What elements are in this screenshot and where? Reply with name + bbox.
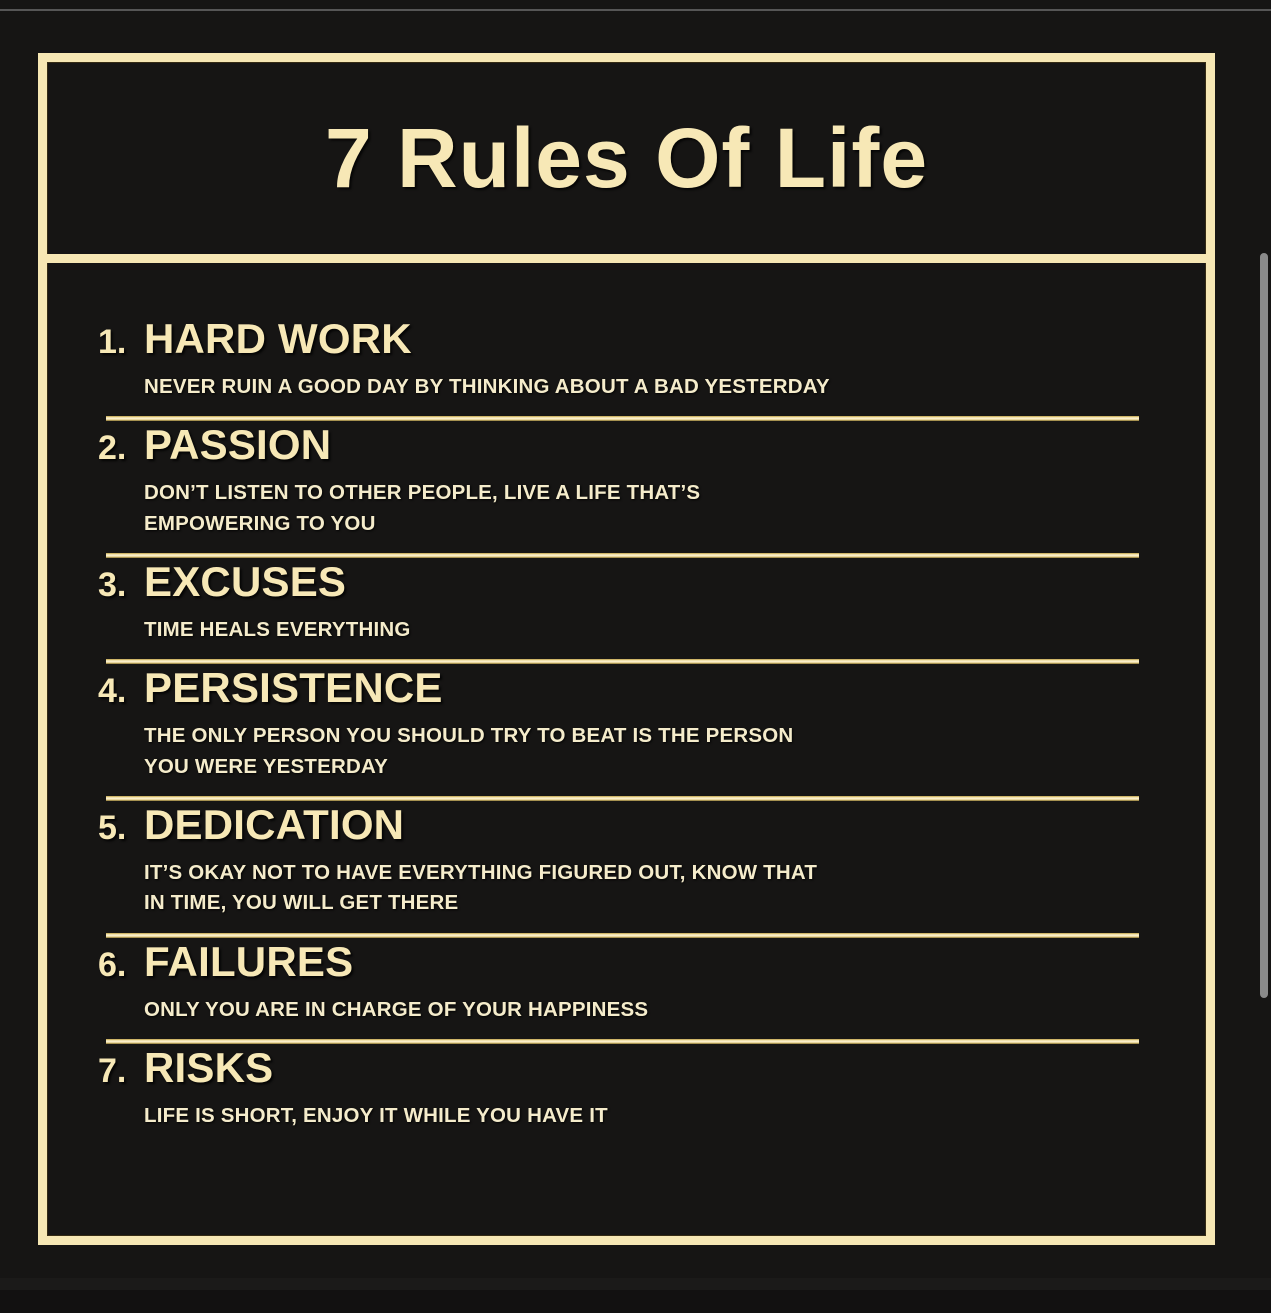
rule-title: RISKS (144, 1044, 273, 1092)
rule-description: THE ONLY PERSON YOU SHOULD TRY TO BEAT I… (144, 721, 1163, 782)
rule-number: 3. (98, 566, 144, 605)
browser-chrome-hairline (0, 9, 1271, 11)
title-divider (47, 254, 1206, 263)
rule-title: PASSION (144, 421, 331, 469)
rule-number: 2. (98, 429, 144, 468)
rule-description: NEVER RUIN A GOOD DAY BY THINKING ABOUT … (144, 372, 1163, 402)
rule-number: 6. (98, 946, 144, 985)
poster-title-block: 7 Rules Of Life (47, 62, 1206, 254)
rule-number: 7. (98, 1052, 144, 1091)
page-scrollbar[interactable] (1257, 12, 1271, 1313)
rule-title: DEDICATION (144, 801, 404, 849)
rule-title: FAILURES (144, 938, 353, 986)
rule-heading: 2.PASSION (98, 421, 1163, 469)
rule-heading: 6.FAILURES (98, 938, 1163, 986)
page-title: 7 Rules Of Life (325, 116, 928, 200)
rule-description: LIFE IS SHORT, ENJOY IT WHILE YOU HAVE I… (144, 1101, 1163, 1131)
rule-number: 4. (98, 672, 144, 711)
scrollbar-thumb[interactable] (1260, 253, 1268, 998)
rule-heading: 5.DEDICATION (98, 801, 1163, 849)
rule-heading: 7.RISKS (98, 1044, 1163, 1092)
rule-title: EXCUSES (144, 558, 346, 606)
rule-heading: 1.HARD WORK (98, 315, 1163, 363)
screenshot-canvas: 7 Rules Of Life 1.HARD WORKNEVER RUIN A … (0, 0, 1271, 1313)
list-item: 5.DEDICATIONIT’S OKAY NOT TO HAVE EVERYT… (98, 801, 1163, 938)
rule-description: TIME HEALS EVERYTHING (144, 615, 1163, 645)
rule-description: ONLY YOU ARE IN CHARGE OF YOUR HAPPINESS (144, 995, 1163, 1025)
list-item: 1.HARD WORKNEVER RUIN A GOOD DAY BY THIN… (98, 315, 1163, 421)
rule-heading: 3.EXCUSES (98, 558, 1163, 606)
list-item: 7.RISKSLIFE IS SHORT, ENJOY IT WHILE YOU… (98, 1044, 1163, 1131)
rule-description: IT’S OKAY NOT TO HAVE EVERYTHING FIGURED… (144, 858, 1163, 919)
rule-number: 1. (98, 323, 144, 362)
page-bottom-band (0, 1290, 1271, 1313)
rules-poster: 7 Rules Of Life 1.HARD WORKNEVER RUIN A … (38, 53, 1215, 1245)
page-bottom-band-upper (0, 1278, 1271, 1290)
rule-description: DON’T LISTEN TO OTHER PEOPLE, LIVE A LIF… (144, 478, 1163, 539)
list-item: 2.PASSIONDON’T LISTEN TO OTHER PEOPLE, L… (98, 421, 1163, 558)
rule-title: PERSISTENCE (144, 664, 443, 712)
list-item: 3.EXCUSESTIME HEALS EVERYTHING (98, 558, 1163, 664)
rule-title: HARD WORK (144, 315, 412, 363)
list-item: 4.PERSISTENCETHE ONLY PERSON YOU SHOULD … (98, 664, 1163, 801)
rules-list: 1.HARD WORKNEVER RUIN A GOOD DAY BY THIN… (47, 263, 1206, 1236)
rule-heading: 4.PERSISTENCE (98, 664, 1163, 712)
list-item: 6.FAILURESONLY YOU ARE IN CHARGE OF YOUR… (98, 938, 1163, 1044)
rule-number: 5. (98, 809, 144, 848)
